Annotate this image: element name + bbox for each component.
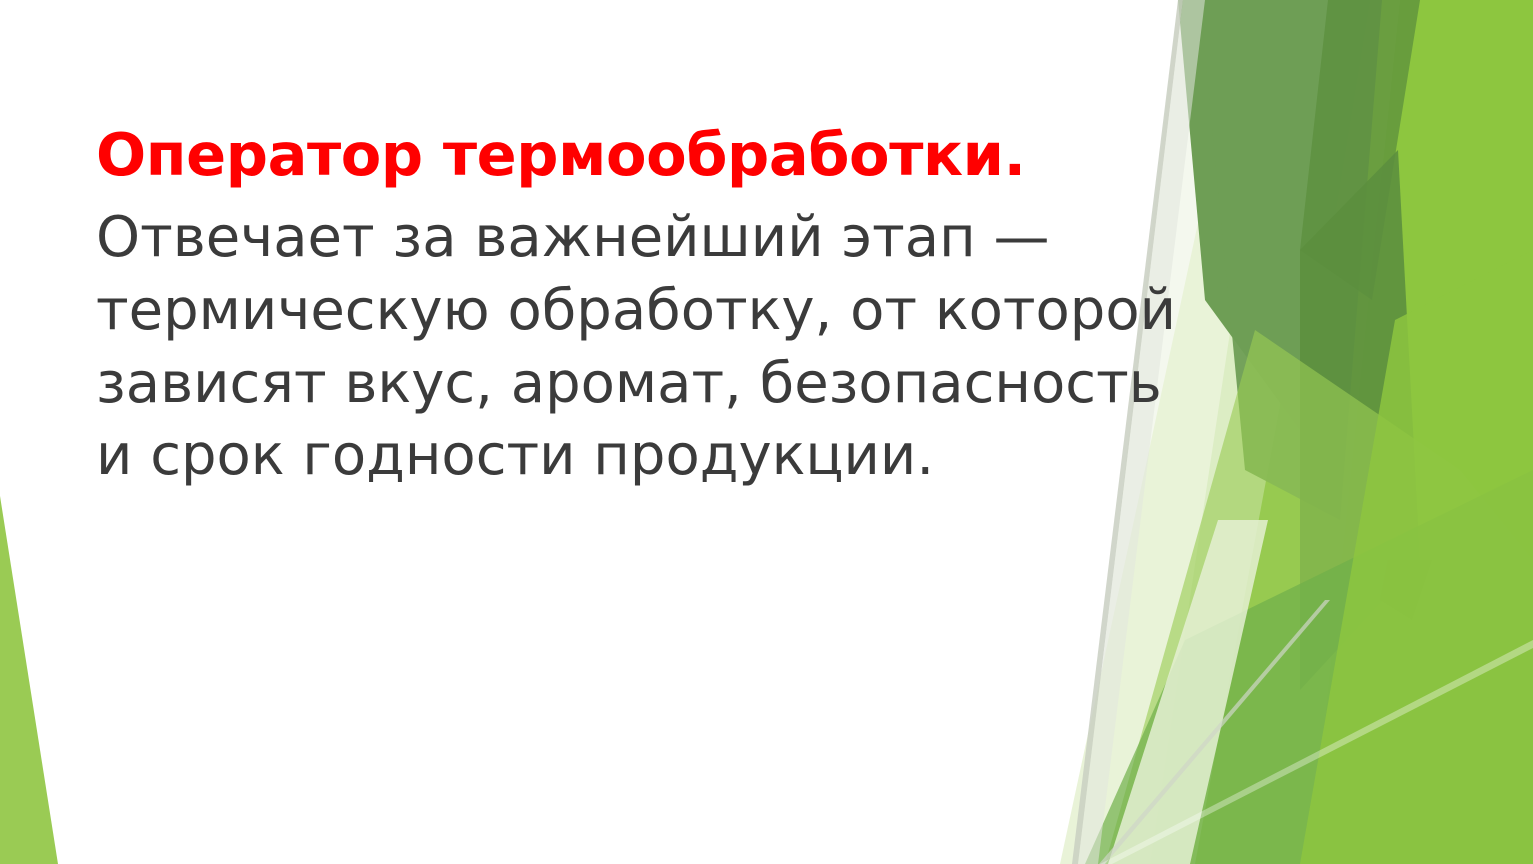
deep-accent-shape: [1380, 560, 1432, 620]
bright-column-shape: [1310, 0, 1533, 864]
body-line: Отвечает за важнейший этап —: [96, 202, 1286, 275]
slide-body-text: Отвечает за важнейший этап — термическую…: [96, 202, 1286, 493]
white-highlight-shape: [1100, 640, 1533, 864]
slide-title: Оператор термообработки.: [96, 122, 1286, 188]
dark-diamond-shape: [1300, 150, 1420, 690]
body-line: зависят вкус, аромат, безопасность: [96, 348, 1286, 421]
lower-diagonal-shape: [1085, 470, 1533, 864]
corner-wedge-shape: [0, 496, 58, 864]
slide-text-content: Оператор термообработки. Отвечает за важ…: [96, 122, 1286, 493]
hairline-crease-two-shape: [1099, 600, 1330, 864]
body-line: термическую обработку, от которой: [96, 275, 1286, 348]
lower-bright-block-shape: [1300, 250, 1533, 864]
presentation-slide: Оператор термообработки. Отвечает за важ…: [0, 0, 1533, 864]
body-line: и срок годности продукции.: [96, 420, 1286, 493]
pale-ribbon-shape: [1108, 520, 1268, 864]
dark-wedge-upper-shape: [1300, 0, 1420, 300]
